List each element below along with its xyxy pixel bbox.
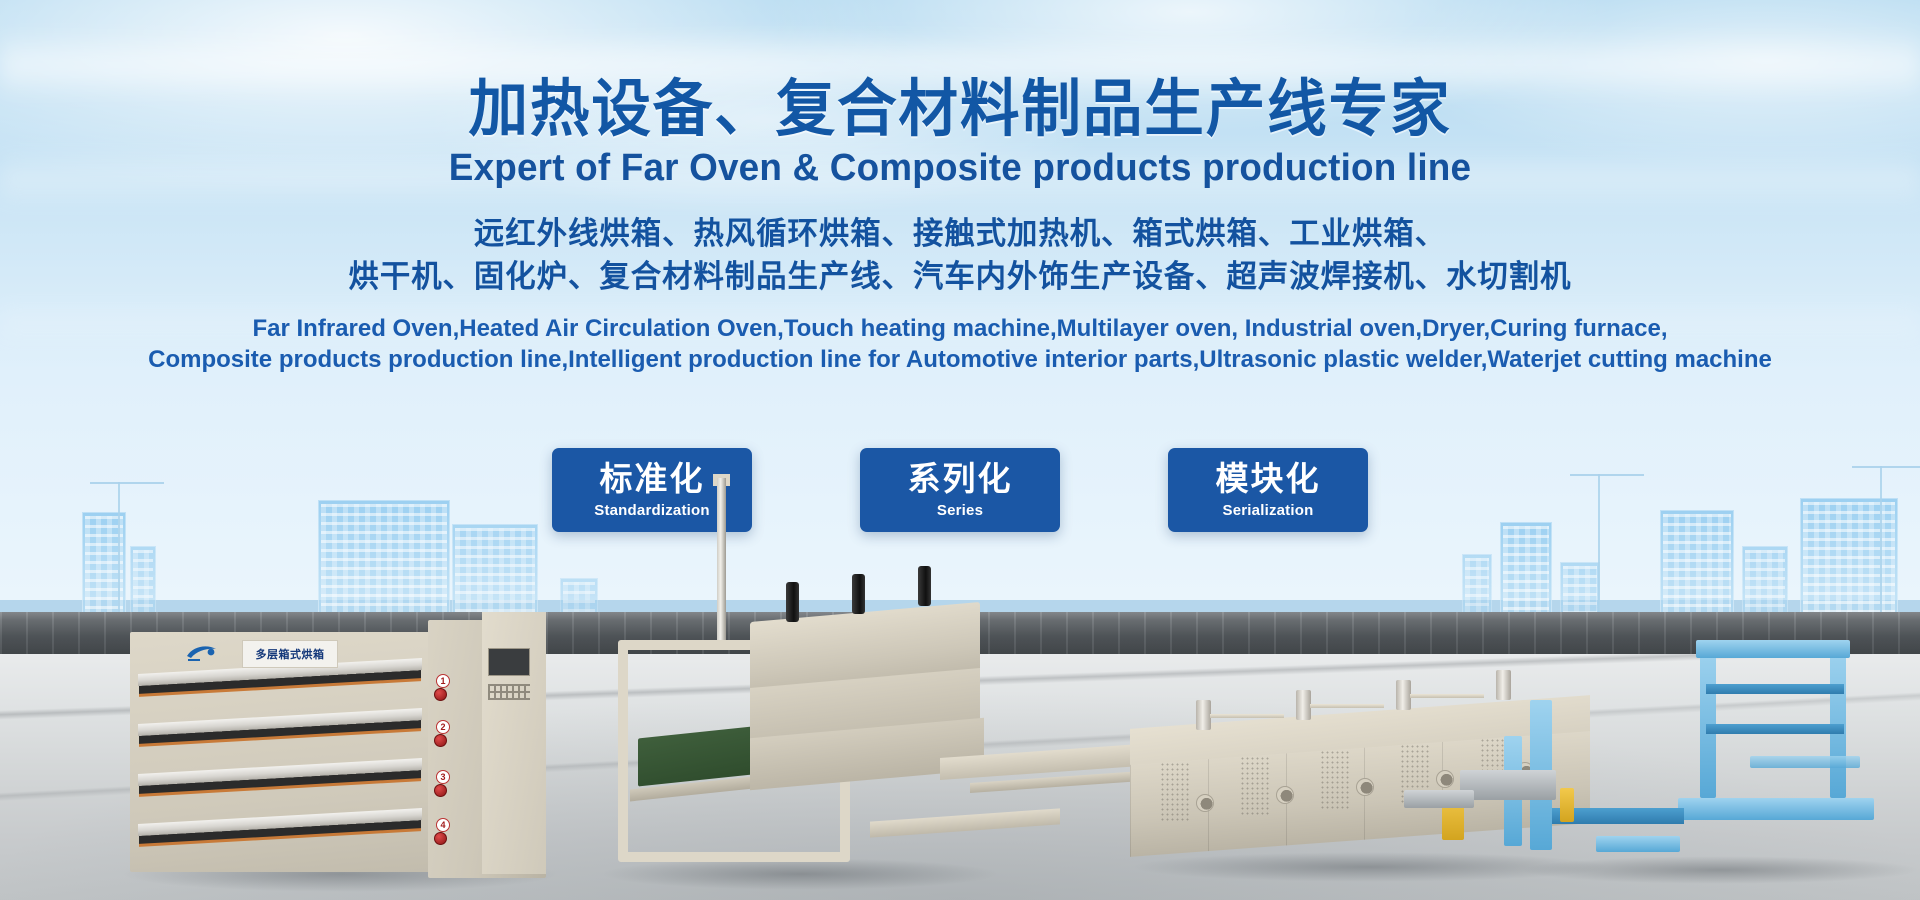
tunnel-exhaust-stack [1196, 700, 1211, 730]
oven-indicator-lamp[interactable] [434, 688, 447, 701]
cell-gantry-right [1830, 648, 1846, 798]
feature-badge-group: 标准化 Standardization 系列化 Series 模块化 Seria… [0, 448, 1920, 532]
product-list-en-line-2: Composite products production line,Intel… [0, 344, 1920, 375]
oven-vent-grille [488, 684, 530, 700]
badge-label-en: Series [870, 502, 1050, 519]
machine-multilayer-oven: 多层箱式烘箱 1 2 3 4 [130, 620, 545, 882]
hero-banner: 加热设备、复合材料制品生产线专家 Expert of Far Oven & Co… [0, 0, 1920, 900]
oven-indicator-lamp[interactable] [434, 784, 447, 797]
page-title: 加热设备、复合材料制品生产线专家 [38, 78, 1881, 141]
oven-nameplate: 多层箱式烘箱 [242, 640, 338, 668]
badge-label-cn: 系列化 [870, 461, 1050, 497]
machine-composite-press [600, 600, 1020, 890]
cell-base-platform [1678, 798, 1874, 820]
cell-rear-fence [1750, 756, 1860, 768]
cell-safety-marker [1560, 788, 1574, 822]
product-list-en-line-1: Far Infrared Oven,Heated Air Circulation… [0, 313, 1920, 344]
product-list-cn-line-2: 烘干机、固化炉、复合材料制品生产线、汽车内外饰生产设备、超声波焊接机、水切割机 [19, 256, 1901, 299]
cell-gantry-beam [1696, 640, 1850, 658]
cell-gantry-rail [1706, 684, 1844, 694]
tunnel-exhaust-stack [1296, 690, 1311, 720]
badge-label-cn: 模块化 [1178, 461, 1358, 497]
tunnel-perforation-panel [1320, 750, 1350, 810]
badge-label-en: Standardization [562, 502, 742, 519]
oven-indicator-number: 3 [436, 770, 450, 784]
oven-indicator-number: 1 [436, 674, 450, 688]
machine-robot-cell [1500, 640, 1920, 880]
product-list-cn: 远红外线烘箱、热风循环烘箱、接触式加热机、箱式烘箱、工业烘箱、 烘干机、固化炉、… [0, 213, 1920, 299]
tunnel-perforation-panel [1160, 762, 1190, 822]
badge-series[interactable]: 系列化 Series [860, 448, 1060, 532]
product-list-cn-line-1: 远红外线烘箱、热风循环烘箱、接触式加热机、箱式烘箱、工业烘箱、 [19, 213, 1901, 256]
press-hydraulic-pillar [918, 566, 931, 606]
tunnel-exhaust-stack [1396, 680, 1411, 710]
oven-indicator-number: 2 [436, 720, 450, 734]
cell-transfer-unit [1460, 770, 1556, 800]
press-hydraulic-pillar [786, 582, 799, 622]
press-mast [717, 478, 726, 648]
tunnel-inspection-port [1196, 794, 1214, 812]
oven-indicator-lamp[interactable] [434, 832, 447, 845]
brand-logo-icon [184, 642, 220, 664]
badge-modularization[interactable]: 模块化 Serialization [1168, 448, 1368, 532]
tunnel-duct-arm [1410, 694, 1484, 698]
tunnel-inspection-port [1436, 770, 1454, 788]
cell-gantry-left [1700, 648, 1716, 798]
banner-text-block: 加热设备、复合材料制品生产线专家 Expert of Far Oven & Co… [0, 0, 1920, 375]
press-hydraulic-pillar [852, 574, 865, 614]
tunnel-perforation-panel [1240, 756, 1270, 816]
tunnel-inspection-port [1356, 778, 1374, 796]
oven-indicator-number: 4 [436, 818, 450, 832]
tunnel-duct-arm [1310, 704, 1384, 708]
product-list-en: Far Infrared Oven,Heated Air Circulation… [0, 313, 1920, 375]
oven-display-screen[interactable] [488, 648, 530, 676]
badge-label-en: Serialization [1178, 502, 1358, 519]
tunnel-duct-arm [1210, 714, 1284, 718]
tunnel-inspection-port [1276, 786, 1294, 804]
cell-gantry-rail [1706, 724, 1844, 734]
cell-pallet [1596, 836, 1680, 852]
oven-indicator-lamp[interactable] [434, 734, 447, 747]
cell-robot-arm [1404, 790, 1474, 808]
page-subtitle: Expert of Far Oven & Composite products … [29, 149, 1891, 189]
